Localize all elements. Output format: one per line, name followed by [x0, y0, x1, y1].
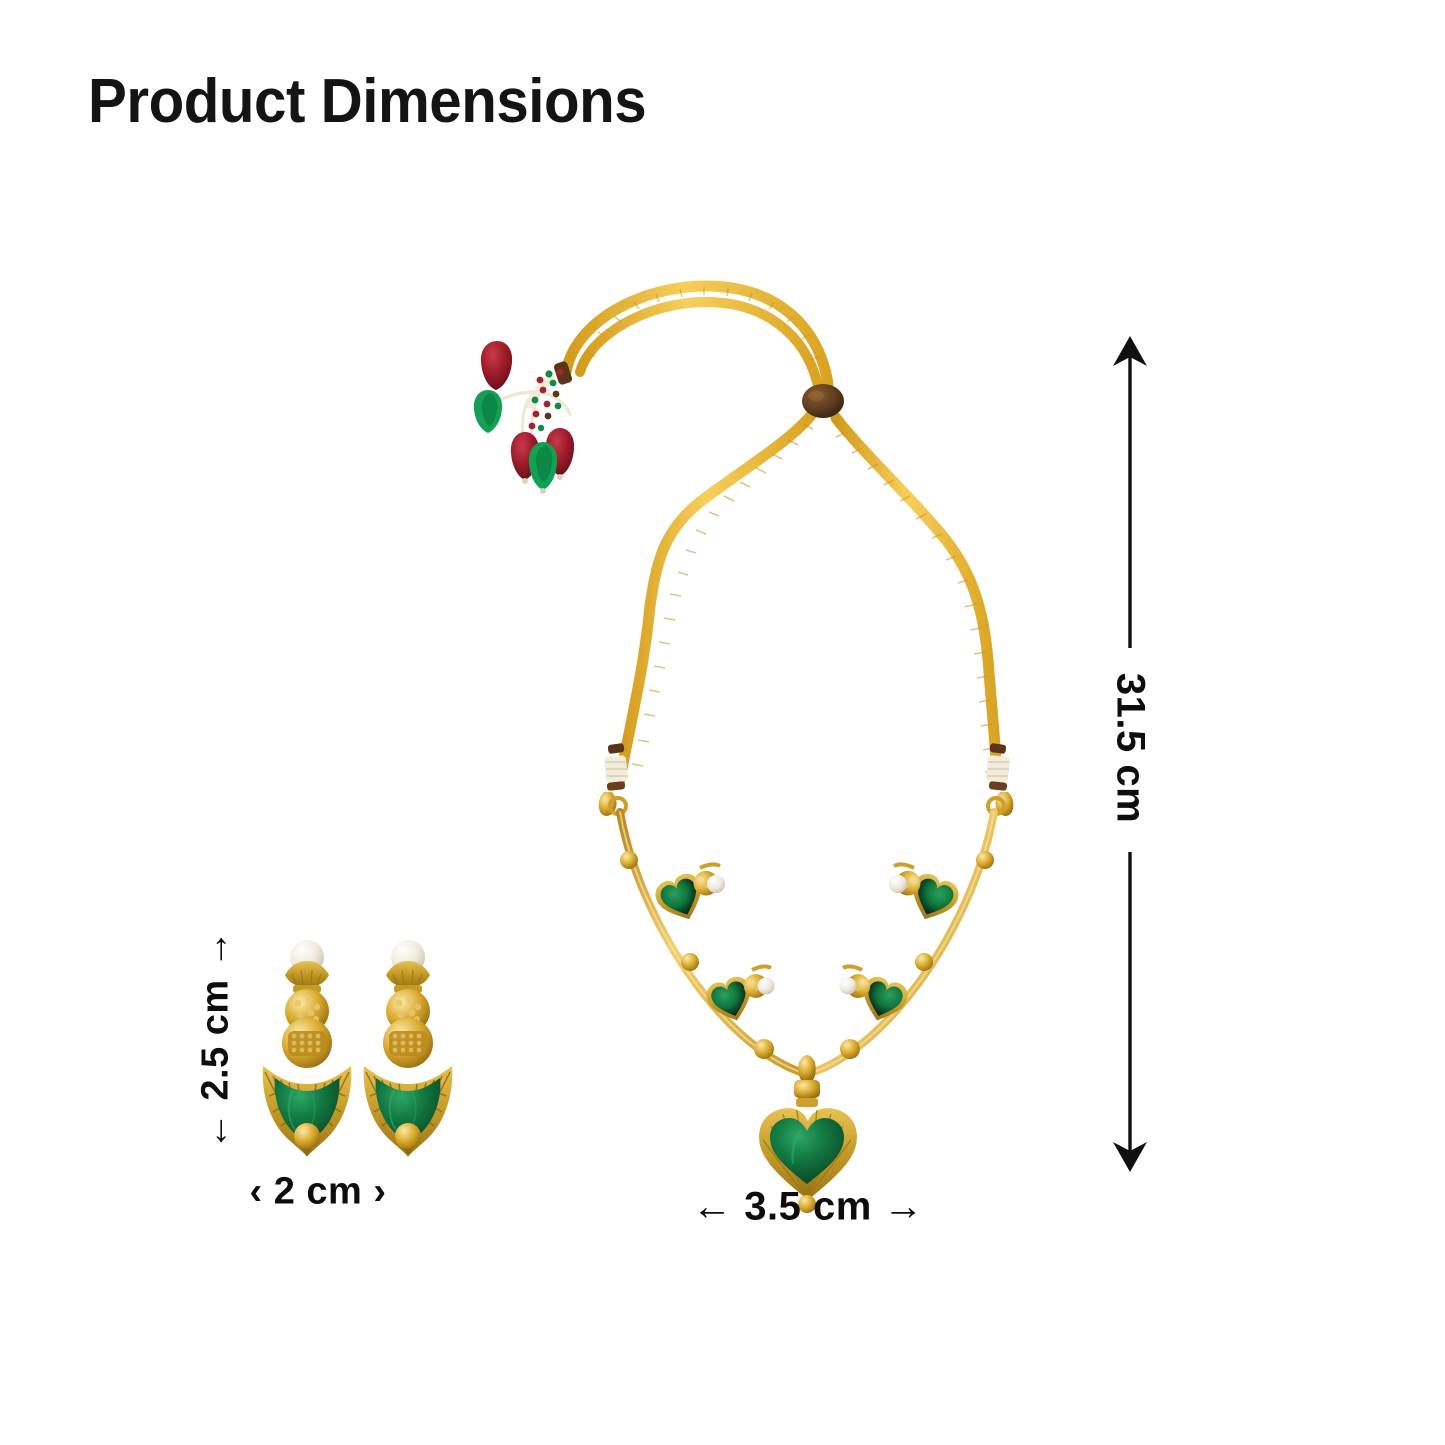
necklace-charm-right-lower — [840, 966, 911, 1027]
earring-disc — [282, 1018, 332, 1068]
earring-fan-frame — [364, 1066, 453, 1156]
earring-stone — [275, 1078, 340, 1144]
earring-granule-ball — [285, 989, 329, 1033]
earring-disc — [383, 1018, 433, 1068]
cord-chain-connector-left — [599, 743, 629, 816]
necklace-charm-left-upper — [651, 864, 725, 927]
pearl-accent — [758, 978, 775, 995]
earring-height-label: ← 2.5 cm → — [195, 930, 238, 1150]
pearl-accent — [840, 978, 857, 995]
necklace-chain — [620, 812, 994, 1074]
chain-bead — [620, 851, 638, 869]
tassel-drop-beads — [474, 341, 574, 494]
tassel-seed-beads — [529, 369, 564, 432]
chain-bead — [976, 851, 994, 869]
adjuster-bead — [802, 384, 844, 418]
necklace-length-label: 31.5 cm — [1108, 673, 1153, 823]
page-title: Product Dimensions — [88, 66, 646, 137]
cord-chain-connector-right — [986, 743, 1014, 816]
pearl-accent — [707, 875, 725, 893]
necklace-tassel — [474, 341, 574, 494]
earring-crown — [386, 961, 430, 987]
chain-bead — [915, 953, 933, 971]
chain-bead — [681, 953, 699, 971]
earring-drop-ball — [395, 1123, 421, 1149]
earring-pearl — [391, 940, 425, 974]
earring-width-label: ‹ 2 cm › — [249, 1171, 386, 1214]
product-dimensions-canvas: Product Dimensions — [0, 0, 1445, 1445]
earring-crown — [285, 961, 329, 987]
earring-drop-ball — [294, 1123, 320, 1149]
chain-bead — [754, 1039, 774, 1059]
necklace-charm-right-upper — [889, 864, 963, 927]
earring-stone — [376, 1078, 441, 1144]
earring-left — [263, 940, 352, 1156]
chain-bead — [840, 1039, 860, 1059]
earring-granule-ball — [386, 989, 430, 1033]
necklace-cord — [566, 286, 997, 784]
earring-pearl — [290, 940, 324, 974]
pendant-width-label: ← 3.5 cm → — [692, 1185, 924, 1230]
necklace-charm-left-lower — [703, 966, 774, 1027]
earring-right — [364, 940, 453, 1156]
earring-fan-frame — [263, 1066, 352, 1156]
pearl-accent — [889, 875, 907, 893]
